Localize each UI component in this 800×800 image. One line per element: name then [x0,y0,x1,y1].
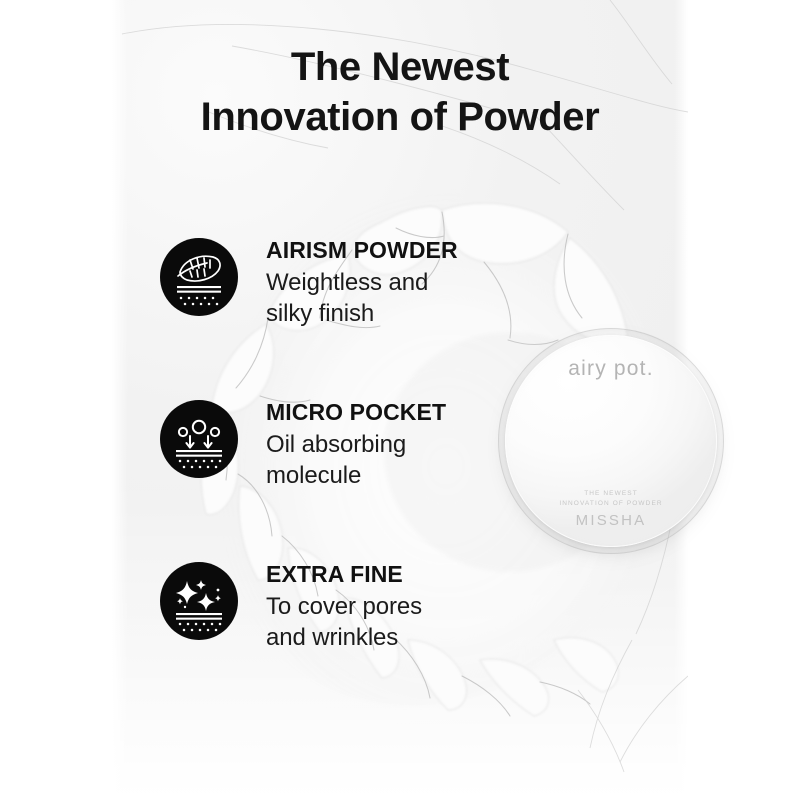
feature-item-airism-powder: AIRISM POWDER Weightless and silky finis… [160,238,580,348]
product-tagline-line-2: INNOVATION OF POWDER [505,499,717,509]
sparkle-fine-powder-icon [160,562,238,640]
feature-body: To cover pores and wrinkles [266,591,586,653]
feature-heading: AIRISM POWDER [266,236,586,264]
title-line-2: Innovation of Powder [0,92,800,142]
title-line-1: The Newest [0,42,800,92]
page-title: The Newest Innovation of Powder [0,42,800,142]
product-tagline-line-1: THE NEWEST [505,489,717,499]
feature-body-line-2: and wrinkles [266,622,586,653]
product-advertisement-poster: The Newest Innovation of Powder [0,0,800,800]
product-brand-block: THE NEWEST INNOVATION OF POWDER MISSHA [505,489,717,529]
feature-body-line-1: To cover pores [266,591,586,622]
feature-body: Weightless and silky finish [266,267,586,329]
feature-body-line-2: silky finish [266,298,586,329]
feature-text-block: EXTRA FINE To cover pores and wrinkles [266,560,586,653]
feature-body-line-1: Weightless and [266,267,586,298]
feature-item-extra-fine: EXTRA FINE To cover pores and wrinkles [160,562,580,672]
oil-absorbing-molecule-icon [160,400,238,478]
brand-logo-text: MISSHA [505,512,717,529]
product-name: airy pot. [505,357,717,381]
feature-text-block: AIRISM POWDER Weightless and silky finis… [266,236,586,329]
feature-heading: EXTRA FINE [266,560,586,588]
feather-over-skin-icon [160,238,238,316]
product-compact-case: airy pot. THE NEWEST INNOVATION OF POWDE… [505,335,717,547]
